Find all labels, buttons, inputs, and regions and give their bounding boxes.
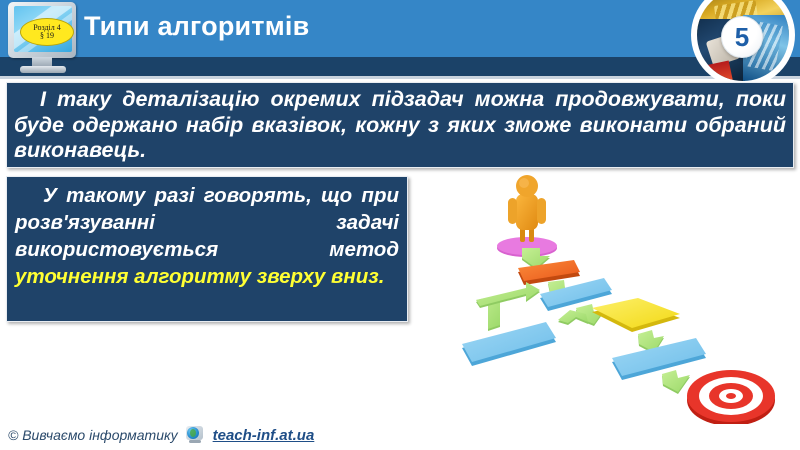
badge-number: 5 [721, 16, 763, 58]
footer-monitor-base [189, 440, 201, 443]
monitor-bezel: Розділ 4 § 19 [8, 2, 76, 58]
statement-top-paragraph: І таку деталізацію окремих підзадач можн… [14, 87, 786, 164]
flowchart-illustration [440, 172, 800, 424]
footer-globe [187, 427, 199, 439]
flow-target-bullseye [687, 370, 775, 424]
lesson-number-badge: 5 [694, 0, 792, 84]
flowchart-svg [440, 172, 800, 424]
page-title: Типи алгоритмів [84, 11, 309, 42]
statement-bottom-period: . [379, 265, 385, 288]
slide-canvas: Розділ 4 § 19 Типи алгоритмів 5 І таку д… [0, 0, 800, 450]
monitor-base [20, 66, 66, 73]
chapter-label-oval: Розділ 4 § 19 [20, 18, 74, 46]
flow-process-blue-2 [462, 322, 556, 366]
flow-person-figure [508, 175, 546, 242]
statement-bottom-highlight-text: уточнення алгоритму зверху вниз [15, 265, 379, 288]
statement-bottom-paragraph: У такому разі говорять, що при розв'язув… [15, 182, 399, 290]
globe-monitor-icon [186, 426, 208, 444]
footer-copyright: © Вивчаємо інформатику [8, 427, 178, 443]
flow-loop-arrow-icon [476, 282, 540, 331]
statement-bottom-white-text: У такому разі говорять, що при розв'язув… [15, 184, 399, 261]
chapter-monitor-icon: Розділ 4 § 19 [6, 2, 84, 76]
flow-arrow-6-icon [662, 370, 690, 394]
footer-site-link[interactable]: teach-inf.at.ua [213, 427, 315, 444]
chapter-line-2: § 19 [40, 32, 54, 40]
statement-textbox-bottom: У такому разі говорять, що при розв'язув… [6, 176, 408, 322]
header-navy-band [0, 57, 800, 76]
footer: © Вивчаємо інформатику teach-inf.at.ua [8, 424, 314, 446]
statement-textbox-top: І таку деталізацію окремих підзадач можн… [6, 82, 794, 168]
flow-decision-yellow [592, 298, 680, 332]
